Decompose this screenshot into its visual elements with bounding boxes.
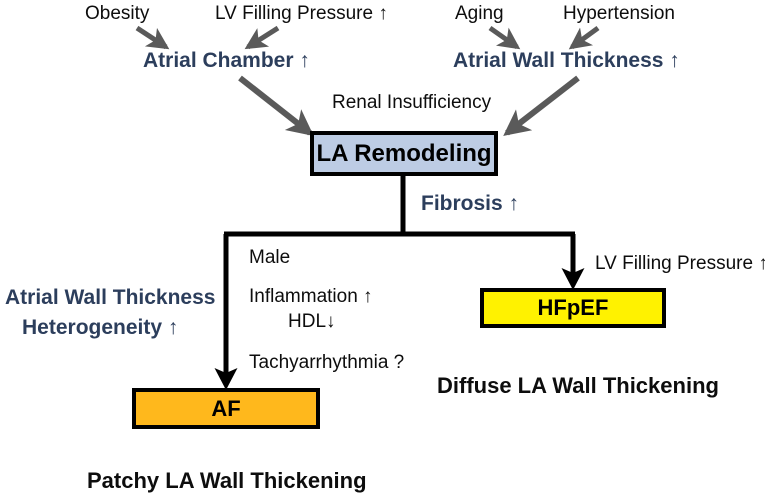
box-la-remodeling[interactable]: LA Remodeling [310, 131, 498, 176]
arrow-hypertension-to-atrial-wall-thickness [572, 28, 598, 47]
arrow-atrial-chamber-to-la-remodeling [240, 78, 310, 133]
af-modifier-inflammation: Inflammation ↑ [249, 287, 373, 306]
risk-factor-hypertension: Hypertension [563, 4, 675, 23]
arrow-aging-to-atrial-wall-thickness [490, 28, 517, 47]
caption-diffuse-la-wall-thickening: Diffuse LA Wall Thickening [437, 375, 719, 397]
node-atrial-wall-thickness-heterogeneity-line2: Heterogeneity ↑ [22, 317, 178, 338]
connector-layer [0, 0, 765, 504]
af-modifier-tachyarrhythmia: Tachyarrhythmia ? [249, 353, 404, 372]
arrow-atrial-wall-thickness-to-la-remodeling [507, 78, 578, 133]
caption-patchy-la-wall-thickening: Patchy LA Wall Thickening [87, 470, 367, 492]
box-hfpef-label: HFpEF [538, 295, 609, 321]
diagram-canvas: Obesity LV Filling Pressure ↑ Aging Hype… [0, 0, 765, 504]
box-la-remodeling-label: LA Remodeling [316, 140, 491, 168]
af-modifier-male: Male [249, 248, 290, 267]
edge-label-lv-filling-pressure-right: LV Filling Pressure ↑ [595, 254, 765, 273]
af-modifier-hdl: HDL↓ [288, 312, 336, 331]
box-af-label: AF [211, 396, 240, 422]
box-hfpef[interactable]: HFpEF [480, 288, 666, 328]
node-atrial-chamber: Atrial Chamber ↑ [143, 50, 310, 71]
arrow-lvfp-to-atrial-chamber [248, 28, 278, 47]
edge-label-fibrosis: Fibrosis ↑ [421, 193, 519, 214]
risk-factor-renal-insufficiency: Renal Insufficiency [332, 93, 491, 112]
arrow-obesity-to-atrial-chamber [137, 28, 166, 47]
risk-factor-aging: Aging [455, 4, 504, 23]
risk-factor-obesity: Obesity [85, 4, 149, 23]
node-atrial-wall-thickness-heterogeneity-line1: Atrial Wall Thickness [5, 287, 215, 308]
node-atrial-wall-thickness: Atrial Wall Thickness ↑ [453, 50, 680, 71]
box-af[interactable]: AF [132, 388, 320, 429]
risk-factor-lv-filling-pressure-top: LV Filling Pressure ↑ [215, 4, 388, 23]
